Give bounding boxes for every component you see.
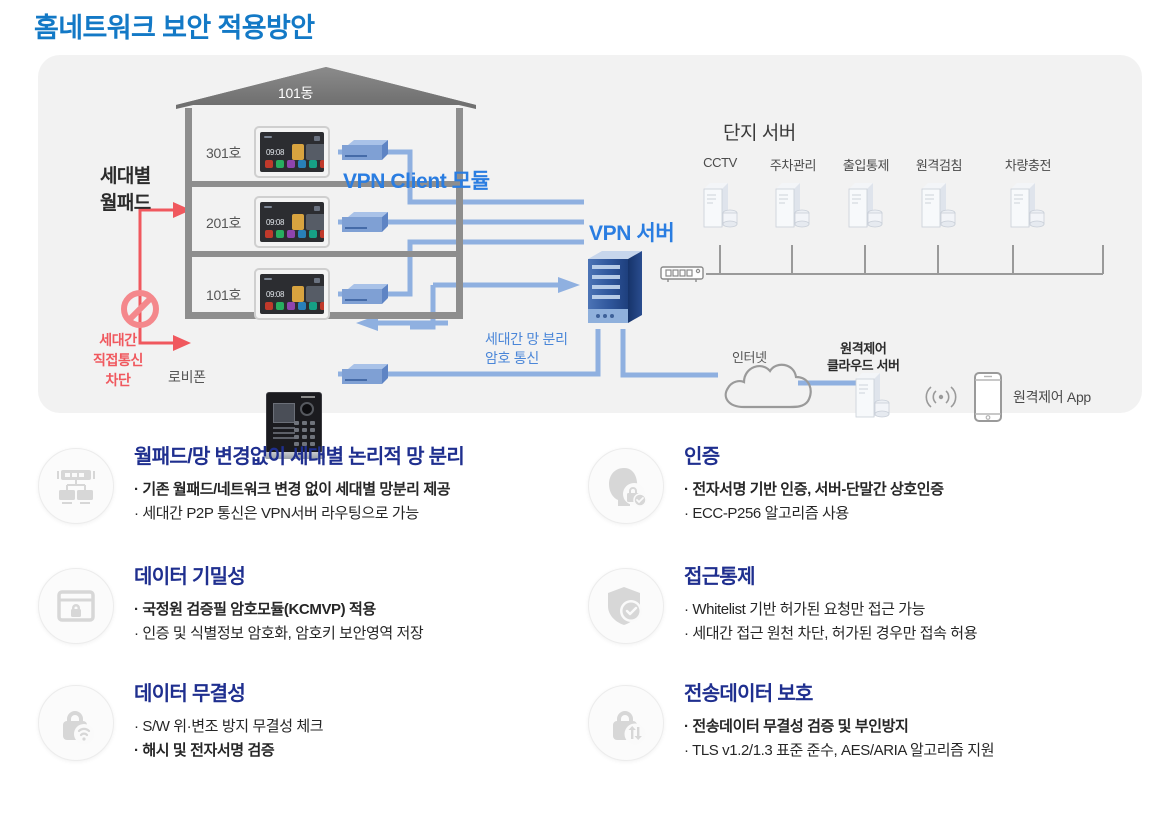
card-line: · 해시 및 전자서명 검증	[134, 739, 323, 763]
card-line: · Whitelist 기반 허가된 요청만 접근 가능	[684, 598, 977, 622]
vpn-server-icon	[584, 247, 646, 329]
network-diagram-panel: 101동 세대별 월패드 세대간 직접통신 차단 301호 09:08	[38, 55, 1142, 413]
vpn-client-module-101	[342, 283, 388, 305]
feature-card-network-separation: 월패드/망 변경없이 세대별 논리적 망 분리 · 기존 월패드/네트워크 변경…	[38, 440, 464, 526]
page-title: 홈네트워크 보안 적용방안	[34, 6, 314, 45]
server-label-parking: 주차관리	[765, 155, 821, 174]
card-line: · 세대간 접근 원천 차단, 허가된 경우만 접속 허용	[684, 622, 977, 646]
server-icon-metering	[918, 177, 958, 229]
blocked-label-line1: 세대간	[76, 330, 160, 350]
server-icon-parking	[772, 177, 812, 229]
floor-divider	[185, 251, 463, 257]
card-line: · 인증 및 식별정보 암호화, 암호키 보안영역 저장	[134, 622, 423, 646]
feature-card-data-integrity: 데이터 무결성 · S/W 위·변조 방지 무결성 체크 · 해시 및 전자서명…	[38, 677, 323, 763]
feature-card-access-control: 접근통제 · Whitelist 기반 허가된 요청만 접근 가능 · 세대간 …	[588, 560, 977, 646]
wallpad-device-201: 09:08	[254, 196, 330, 248]
card-line: · S/W 위·변조 방지 무결성 체크	[134, 715, 323, 739]
shield-check-icon	[588, 568, 664, 644]
card-title: 인증	[684, 440, 944, 469]
building-label: 101동	[278, 83, 313, 103]
blocked-label-line2: 직접통신	[76, 350, 160, 370]
vpn-client-module-301	[342, 139, 388, 161]
card-line: · 세대간 P2P 통신은 VPN서버 라우팅으로 가능	[134, 502, 464, 526]
building-roof	[176, 67, 476, 109]
lock-window-icon	[38, 568, 114, 644]
wallpad-clock: 09:08	[266, 290, 284, 299]
server-label-ev-charging: 차량충전	[1000, 155, 1056, 174]
card-line: · ECC-P256 알고리즘 사용	[684, 502, 944, 526]
network-separation-line2: 암호 통신	[485, 349, 568, 368]
vpn-client-module-label: VPN Client 모듈	[343, 165, 490, 195]
card-line: · TLS v1.2/1.3 표준 준수, AES/ARIA 알고리즘 지원	[684, 739, 994, 763]
card-line: · 기존 월패드/네트워크 변경 없이 세대별 망분리 제공	[134, 478, 464, 502]
network-switch-icon	[660, 264, 706, 284]
server-icon-ev-charging	[1007, 177, 1047, 229]
card-title: 데이터 기밀성	[134, 560, 423, 589]
lobby-phone-label: 로비폰	[168, 367, 206, 387]
lock-transfer-icon	[588, 685, 664, 761]
wallpad-clock: 09:08	[266, 148, 284, 157]
internet-cloud-icon	[718, 355, 834, 413]
server-icon-cctv	[700, 177, 740, 229]
card-line: · 전자서명 기반 인증, 서버-단말간 상호인증	[684, 478, 944, 502]
no-entry-icon	[121, 290, 159, 328]
cloud-server-line1: 원격제어	[827, 340, 900, 357]
feature-card-transmission-protection: 전송데이터 보호 · 전송데이터 무결성 검증 및 부인방지 · TLS v1.…	[588, 677, 994, 763]
complex-server-group-label: 단지 서버	[723, 118, 796, 145]
wallpad-device-101: 09:08	[254, 268, 330, 320]
blocked-label-line3: 차단	[76, 370, 160, 390]
remote-app-label: 원격제어 App	[1013, 387, 1091, 407]
feature-card-data-confidentiality: 데이터 기밀성 · 국정원 검증필 암호모듈(KCMVP) 적용 · 인증 및 …	[38, 560, 423, 646]
server-icon-access	[845, 177, 885, 229]
wallpad-group-line2: 월패드	[100, 190, 151, 217]
smartphone-icon	[973, 371, 1003, 423]
card-title: 전송데이터 보호	[684, 677, 994, 706]
network-topology-icon	[38, 448, 114, 524]
server-label-metering: 원격검침	[911, 155, 967, 174]
unit-label-201: 201호	[206, 213, 241, 233]
face-lock-icon	[588, 448, 664, 524]
wireless-signal-icon	[918, 385, 964, 409]
vpn-client-module-lobby	[342, 363, 388, 385]
feature-cards: 월패드/망 변경없이 세대별 논리적 망 분리 · 기존 월패드/네트워크 변경…	[38, 432, 1142, 807]
server-label-access: 출입통제	[838, 155, 894, 174]
card-line: · 전송데이터 무결성 검증 및 부인방지	[684, 715, 994, 739]
card-title: 월패드/망 변경없이 세대별 논리적 망 분리	[134, 440, 464, 469]
vpn-server-label: VPN 서버	[589, 217, 674, 247]
network-separation-line1: 세대간 망 분리	[485, 330, 568, 349]
network-separation-label: 세대간 망 분리 암호 통신	[485, 330, 568, 368]
server-label-cctv: CCTV	[694, 155, 746, 170]
lock-wifi-icon	[38, 685, 114, 761]
wallpad-device-301: 09:08	[254, 126, 330, 178]
blocked-label: 세대간 직접통신 차단	[76, 330, 160, 390]
unit-label-101: 101호	[206, 285, 241, 305]
wallpad-group-label: 세대별 월패드	[100, 163, 151, 217]
unit-label-301: 301호	[206, 143, 241, 163]
feature-card-authentication: 인증 · 전자서명 기반 인증, 서버-단말간 상호인증 · ECC-P256 …	[588, 440, 944, 526]
vpn-client-module-201	[342, 211, 388, 233]
cloud-server-icon	[852, 367, 892, 419]
card-title: 데이터 무결성	[134, 677, 323, 706]
card-title: 접근통제	[684, 560, 977, 589]
card-line: · 국정원 검증필 암호모듈(KCMVP) 적용	[134, 598, 423, 622]
wallpad-group-line1: 세대별	[100, 163, 151, 190]
wallpad-clock: 09:08	[266, 218, 284, 227]
